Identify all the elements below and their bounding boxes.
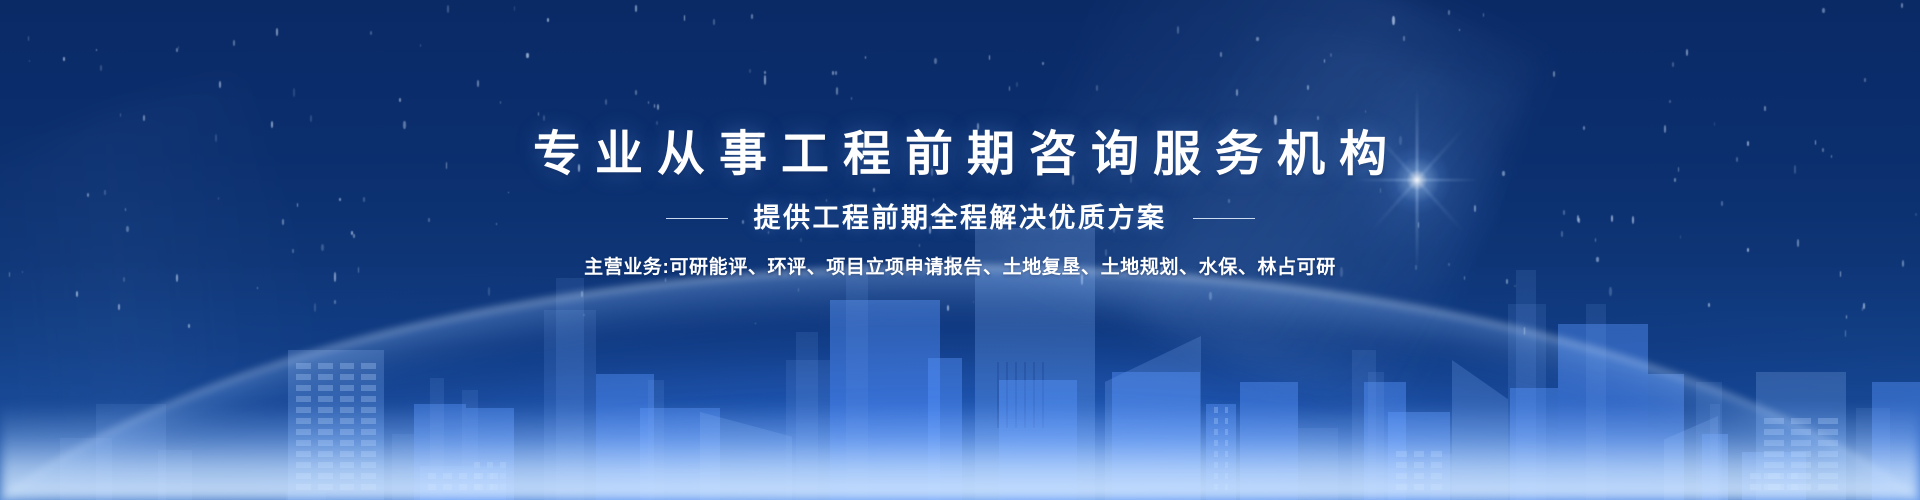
window-cell bbox=[340, 451, 355, 457]
star-particle bbox=[1686, 49, 1688, 56]
hero-banner: 专业从事工程前期咨询服务机构 提供工程前期全程解决优质方案 主营业务:可研能评、… bbox=[0, 0, 1920, 500]
building-silhouette bbox=[796, 332, 818, 500]
window-cell bbox=[340, 429, 355, 435]
star-particle bbox=[334, 300, 336, 304]
star-particle bbox=[215, 134, 217, 142]
window-cell bbox=[296, 418, 311, 424]
star-particle bbox=[488, 287, 490, 296]
star-particle bbox=[1595, 238, 1596, 242]
window-cell bbox=[1787, 484, 1798, 490]
window-cell bbox=[1791, 462, 1811, 468]
window-cell bbox=[1787, 473, 1798, 479]
star-particle bbox=[477, 80, 479, 87]
star-particle bbox=[104, 190, 105, 195]
star-particle bbox=[1105, 249, 1107, 256]
window-cell bbox=[1818, 484, 1838, 490]
window-cell bbox=[361, 374, 376, 380]
window-cell bbox=[318, 374, 333, 380]
star-particle bbox=[1583, 126, 1585, 130]
building-windows bbox=[428, 473, 498, 490]
window-cell bbox=[1750, 473, 1761, 479]
star-particle bbox=[1596, 257, 1598, 262]
building-windows bbox=[474, 462, 506, 490]
building-silhouette bbox=[1452, 360, 1508, 500]
star-particle bbox=[1392, 16, 1394, 25]
star-particle bbox=[178, 46, 180, 49]
building-silhouette bbox=[1586, 304, 1606, 500]
building-silhouette bbox=[60, 438, 112, 500]
window-cell bbox=[1818, 418, 1838, 424]
star-particle bbox=[1797, 239, 1800, 248]
window-cell bbox=[1225, 440, 1229, 446]
mullion-line bbox=[997, 362, 999, 428]
building-silhouette bbox=[392, 434, 414, 500]
subtitle-rule-right bbox=[1193, 218, 1255, 219]
window-cell bbox=[318, 440, 333, 446]
window-cell bbox=[1791, 440, 1811, 446]
star-particle bbox=[526, 53, 528, 58]
window-cell bbox=[474, 484, 480, 490]
star-particle bbox=[1864, 78, 1866, 82]
window-cell bbox=[361, 407, 376, 413]
mullion-line bbox=[1024, 362, 1026, 428]
building-silhouette bbox=[1872, 382, 1920, 500]
window-cell bbox=[500, 473, 506, 479]
building-silhouette bbox=[1105, 336, 1201, 500]
star-particle bbox=[755, 323, 756, 325]
window-cell bbox=[428, 473, 436, 479]
star-particle bbox=[1403, 36, 1405, 42]
window-cell bbox=[318, 385, 333, 391]
building-silhouette bbox=[1648, 374, 1684, 500]
building-silhouette bbox=[1368, 372, 1384, 500]
window-cell bbox=[361, 484, 376, 490]
star-particle bbox=[1464, 276, 1466, 280]
star-particle bbox=[1177, 26, 1179, 34]
star-particle bbox=[1514, 285, 1516, 288]
building-silhouette bbox=[544, 310, 596, 500]
star-particle bbox=[76, 291, 78, 297]
star-particle bbox=[1042, 62, 1044, 66]
star-particle bbox=[713, 19, 714, 25]
building-silhouette bbox=[1664, 416, 1718, 500]
building-silhouette bbox=[1298, 428, 1338, 500]
window-cell bbox=[1396, 484, 1407, 490]
window-cell bbox=[1431, 451, 1442, 457]
star-particle bbox=[100, 65, 102, 71]
window-cell bbox=[459, 484, 467, 490]
window-cell bbox=[490, 473, 498, 479]
star-particle bbox=[1561, 231, 1564, 237]
star-particle bbox=[1577, 215, 1579, 222]
star-particle bbox=[1209, 292, 1211, 300]
window-cell bbox=[361, 440, 376, 446]
window-cell bbox=[1764, 451, 1784, 457]
star-particle bbox=[1863, 303, 1865, 310]
star-particle bbox=[865, 56, 866, 59]
window-cell bbox=[340, 418, 355, 424]
window-cell bbox=[361, 429, 376, 435]
window-cell bbox=[1818, 451, 1838, 457]
building-silhouette bbox=[286, 492, 326, 500]
building-silhouette bbox=[288, 350, 384, 500]
horizon-glow bbox=[0, 250, 1920, 500]
star-particle bbox=[508, 192, 509, 194]
ground-haze bbox=[0, 404, 1920, 500]
star-particle bbox=[1317, 116, 1319, 121]
star-particle bbox=[514, 6, 515, 10]
window-cell bbox=[1396, 473, 1407, 479]
star-particle bbox=[1840, 271, 1842, 277]
building-silhouette bbox=[556, 278, 584, 500]
window-cell bbox=[361, 385, 376, 391]
building-silhouette bbox=[999, 380, 1077, 500]
star-particle bbox=[276, 28, 279, 36]
window-cell bbox=[361, 363, 376, 369]
building-silhouette bbox=[96, 404, 166, 500]
window-cell bbox=[318, 363, 333, 369]
window-cell bbox=[296, 407, 311, 413]
window-cell bbox=[1818, 429, 1838, 435]
star-particle bbox=[292, 249, 294, 254]
star-particle bbox=[1324, 59, 1325, 63]
window-cell bbox=[296, 396, 311, 402]
star-particle bbox=[28, 36, 29, 41]
window-cell bbox=[1818, 462, 1838, 468]
window-cell bbox=[1396, 462, 1407, 468]
window-cell bbox=[1214, 418, 1218, 424]
star-particle bbox=[1632, 216, 1634, 224]
star-particle bbox=[1680, 235, 1681, 240]
banner-business-scope: 主营业务:可研能评、环评、项目立项申请报告、土地复垦、土地规划、水保、林占可研 bbox=[584, 256, 1336, 280]
star-particle bbox=[654, 104, 656, 108]
banner-subtitle-row: 提供工程前期全程解决优质方案 bbox=[666, 202, 1255, 234]
window-cell bbox=[296, 473, 311, 479]
star-particle bbox=[271, 121, 273, 128]
star-particle bbox=[218, 197, 220, 200]
star-particle bbox=[87, 193, 89, 198]
star-particle bbox=[188, 324, 190, 328]
window-cell bbox=[474, 484, 482, 490]
window-cell bbox=[1225, 462, 1229, 468]
building-silhouette bbox=[1364, 382, 1406, 500]
window-cell bbox=[296, 462, 311, 468]
star-particle bbox=[581, 291, 583, 297]
building-silhouette bbox=[420, 466, 506, 500]
horizon-rim bbox=[0, 266, 1920, 500]
window-cell bbox=[296, 440, 311, 446]
building-silhouette bbox=[1510, 388, 1558, 500]
window-cell bbox=[361, 462, 376, 468]
window-cell bbox=[318, 473, 333, 479]
star-particle bbox=[1330, 53, 1332, 57]
light-sweep-left bbox=[0, 67, 340, 472]
star-particle bbox=[873, 188, 875, 193]
window-cell bbox=[318, 462, 333, 468]
star-particle bbox=[1009, 86, 1010, 90]
star-particle bbox=[798, 288, 799, 292]
star-particle bbox=[635, 90, 637, 95]
star-particle bbox=[29, 60, 31, 63]
window-cell bbox=[1214, 484, 1218, 490]
star-particle bbox=[370, 31, 372, 35]
star-particle bbox=[293, 88, 296, 98]
star-particle bbox=[1764, 106, 1766, 112]
building-silhouette bbox=[830, 300, 940, 500]
star-particle bbox=[1747, 141, 1749, 146]
window-cell bbox=[1414, 462, 1425, 468]
star-particle bbox=[1578, 218, 1580, 223]
window-cell bbox=[1764, 440, 1784, 446]
window-cell bbox=[1768, 473, 1779, 479]
star-particle bbox=[635, 5, 638, 12]
star-particle bbox=[547, 18, 549, 22]
star-particle bbox=[1822, 8, 1825, 13]
building-silhouette bbox=[466, 408, 514, 500]
window-cell bbox=[1818, 473, 1838, 479]
star-particle bbox=[282, 219, 285, 225]
star-particle bbox=[447, 5, 449, 12]
building-windows bbox=[1396, 451, 1442, 490]
building-silhouette bbox=[1516, 270, 1536, 500]
star-particle bbox=[1831, 155, 1832, 158]
star-particle bbox=[63, 57, 65, 61]
building-windows bbox=[1750, 473, 1798, 490]
building-silhouette bbox=[1352, 350, 1376, 500]
window-cell bbox=[361, 418, 376, 424]
star-particle bbox=[947, 305, 949, 311]
window-cell bbox=[340, 385, 355, 391]
window-cell bbox=[487, 484, 493, 490]
building-silhouette bbox=[700, 412, 792, 500]
window-cell bbox=[296, 363, 311, 369]
window-cell bbox=[1764, 418, 1784, 424]
star-particle bbox=[314, 303, 316, 312]
star-particle bbox=[1220, 52, 1222, 58]
star-particle bbox=[310, 115, 312, 122]
star-particle bbox=[219, 81, 221, 87]
window-cell bbox=[1764, 462, 1784, 468]
window-cell bbox=[318, 451, 333, 457]
star-particle bbox=[1236, 89, 1238, 96]
window-cell bbox=[318, 396, 333, 402]
mullion-line bbox=[1006, 362, 1008, 428]
star-particle bbox=[1448, 10, 1451, 15]
mullion-line bbox=[1033, 362, 1035, 428]
window-cell bbox=[443, 473, 451, 479]
star-particle bbox=[500, 101, 501, 104]
building-silhouette bbox=[1710, 404, 1720, 500]
star-particle bbox=[420, 44, 422, 47]
window-cell bbox=[474, 473, 480, 479]
building-silhouette bbox=[648, 380, 664, 500]
star-particle bbox=[1845, 330, 1847, 338]
building-windows bbox=[1214, 407, 1228, 490]
building-silhouette bbox=[596, 374, 654, 500]
window-cell bbox=[1818, 440, 1838, 446]
window-cell bbox=[1414, 451, 1425, 457]
window-cell bbox=[490, 484, 498, 490]
mullion-line bbox=[1015, 362, 1017, 428]
building-silhouette bbox=[1240, 382, 1298, 500]
star-particle bbox=[496, 223, 497, 225]
building-mullions bbox=[997, 362, 1044, 428]
star-particle bbox=[1459, 29, 1460, 31]
star-particle bbox=[9, 272, 11, 277]
star-particle bbox=[835, 71, 837, 76]
star-particle bbox=[656, 121, 658, 125]
star-particle bbox=[123, 277, 125, 282]
window-cell bbox=[340, 440, 355, 446]
star-particle bbox=[399, 98, 401, 102]
window-cell bbox=[1414, 473, 1425, 479]
window-cell bbox=[474, 462, 480, 468]
window-cell bbox=[340, 407, 355, 413]
building-windows bbox=[296, 363, 376, 490]
star-particle bbox=[1708, 303, 1710, 307]
star-particle bbox=[583, 314, 584, 317]
building-silhouette bbox=[928, 358, 962, 500]
window-cell bbox=[1225, 451, 1229, 457]
star-particle bbox=[1672, 62, 1674, 68]
window-cell bbox=[459, 473, 467, 479]
window-cell bbox=[340, 484, 355, 490]
star-particle bbox=[1474, 205, 1476, 212]
star-particle bbox=[657, 104, 659, 111]
star-particle bbox=[334, 272, 336, 281]
window-cell bbox=[296, 374, 311, 380]
star-particle bbox=[1714, 122, 1715, 126]
window-cell bbox=[1414, 484, 1425, 490]
building-silhouette bbox=[640, 408, 720, 500]
star-particle bbox=[403, 121, 405, 129]
window-cell bbox=[500, 484, 506, 490]
star-particle bbox=[321, 244, 324, 251]
star-particle bbox=[1415, 265, 1417, 271]
window-cell bbox=[1396, 451, 1407, 457]
star-particle bbox=[96, 49, 97, 51]
star-particle bbox=[297, 203, 298, 208]
window-cell bbox=[1431, 473, 1442, 479]
star-particle bbox=[118, 304, 120, 309]
window-cell bbox=[1431, 462, 1442, 468]
building-silhouette bbox=[1388, 412, 1450, 500]
building-silhouette bbox=[1742, 452, 1806, 500]
star-particle bbox=[1674, 178, 1676, 182]
star-particle bbox=[176, 48, 179, 52]
window-cell bbox=[1214, 407, 1218, 413]
building-silhouette bbox=[846, 264, 868, 500]
building-silhouette bbox=[1206, 404, 1236, 500]
window-cell bbox=[1214, 451, 1218, 457]
window-cell bbox=[1791, 418, 1811, 424]
star-particle bbox=[1721, 201, 1723, 206]
star-particle bbox=[1678, 167, 1679, 172]
star-particle bbox=[120, 113, 121, 118]
building-silhouette bbox=[1112, 372, 1200, 500]
window-cell bbox=[361, 451, 376, 457]
star-particle bbox=[125, 208, 126, 211]
star-particle bbox=[143, 115, 145, 121]
window-cell bbox=[1214, 473, 1218, 479]
star-particle bbox=[339, 198, 340, 201]
building-silhouette bbox=[430, 378, 444, 500]
star-particle bbox=[1815, 140, 1817, 144]
mullion-line bbox=[1042, 362, 1044, 428]
window-cell bbox=[340, 363, 355, 369]
star-particle bbox=[257, 287, 259, 289]
window-cell bbox=[1225, 407, 1229, 413]
star-particle bbox=[1862, 307, 1863, 311]
window-cell bbox=[1764, 429, 1784, 435]
star-particle bbox=[22, 271, 23, 273]
star-particle bbox=[1418, 222, 1420, 228]
star-particle bbox=[1380, 188, 1382, 193]
window-cell bbox=[296, 429, 311, 435]
star-particle bbox=[1365, 110, 1366, 112]
window-cell bbox=[1225, 418, 1229, 424]
star-particle bbox=[538, 112, 540, 116]
banner-headline: 专业从事工程前期咨询服务机构 bbox=[519, 128, 1401, 182]
window-cell bbox=[443, 484, 451, 490]
building-silhouette bbox=[1756, 372, 1846, 500]
star-particle bbox=[764, 75, 767, 85]
window-cell bbox=[361, 396, 376, 402]
star-particle bbox=[973, 301, 974, 303]
window-cell bbox=[318, 429, 333, 435]
star-particle bbox=[351, 231, 353, 235]
star-particle bbox=[1669, 100, 1671, 103]
star-particle bbox=[1664, 125, 1666, 133]
window-cell bbox=[1214, 429, 1218, 435]
star-particle bbox=[353, 234, 355, 239]
star-particle bbox=[836, 87, 839, 95]
building-silhouette bbox=[462, 390, 478, 500]
window-cell bbox=[1225, 473, 1229, 479]
star-particle bbox=[1846, 315, 1848, 320]
banner-subtitle: 提供工程前期全程解决优质方案 bbox=[754, 202, 1167, 234]
window-cell bbox=[1431, 484, 1442, 490]
starfield bbox=[0, 0, 1920, 500]
star-particle bbox=[684, 15, 686, 22]
star-particle bbox=[1448, 263, 1449, 266]
subtitle-rule-left bbox=[666, 218, 728, 219]
star-particle bbox=[358, 267, 360, 273]
star-particle bbox=[1609, 287, 1612, 297]
star-particle bbox=[1307, 85, 1309, 90]
star-particle bbox=[1736, 157, 1738, 162]
star-particle bbox=[749, 69, 751, 73]
window-cell bbox=[1791, 429, 1811, 435]
star-particle bbox=[1340, 267, 1343, 277]
window-cell bbox=[296, 385, 311, 391]
window-cell bbox=[296, 484, 311, 490]
star-particle bbox=[751, 14, 754, 19]
city-skyline bbox=[0, 200, 1920, 500]
star-particle bbox=[605, 99, 607, 106]
building-silhouette bbox=[1430, 454, 1452, 500]
star-particle bbox=[934, 58, 937, 64]
star-particle bbox=[1902, 260, 1904, 268]
star-particle bbox=[1506, 279, 1508, 284]
star-particle bbox=[648, 101, 649, 104]
star-particle bbox=[851, 97, 852, 100]
star-particle bbox=[919, 244, 921, 248]
window-cell bbox=[296, 451, 311, 457]
star-particle bbox=[1274, 115, 1277, 125]
star-particle bbox=[989, 55, 990, 60]
banner-copy: 专业从事工程前期咨询服务机构 提供工程前期全程解决优质方案 主营业务:可研能评、… bbox=[0, 0, 1920, 500]
